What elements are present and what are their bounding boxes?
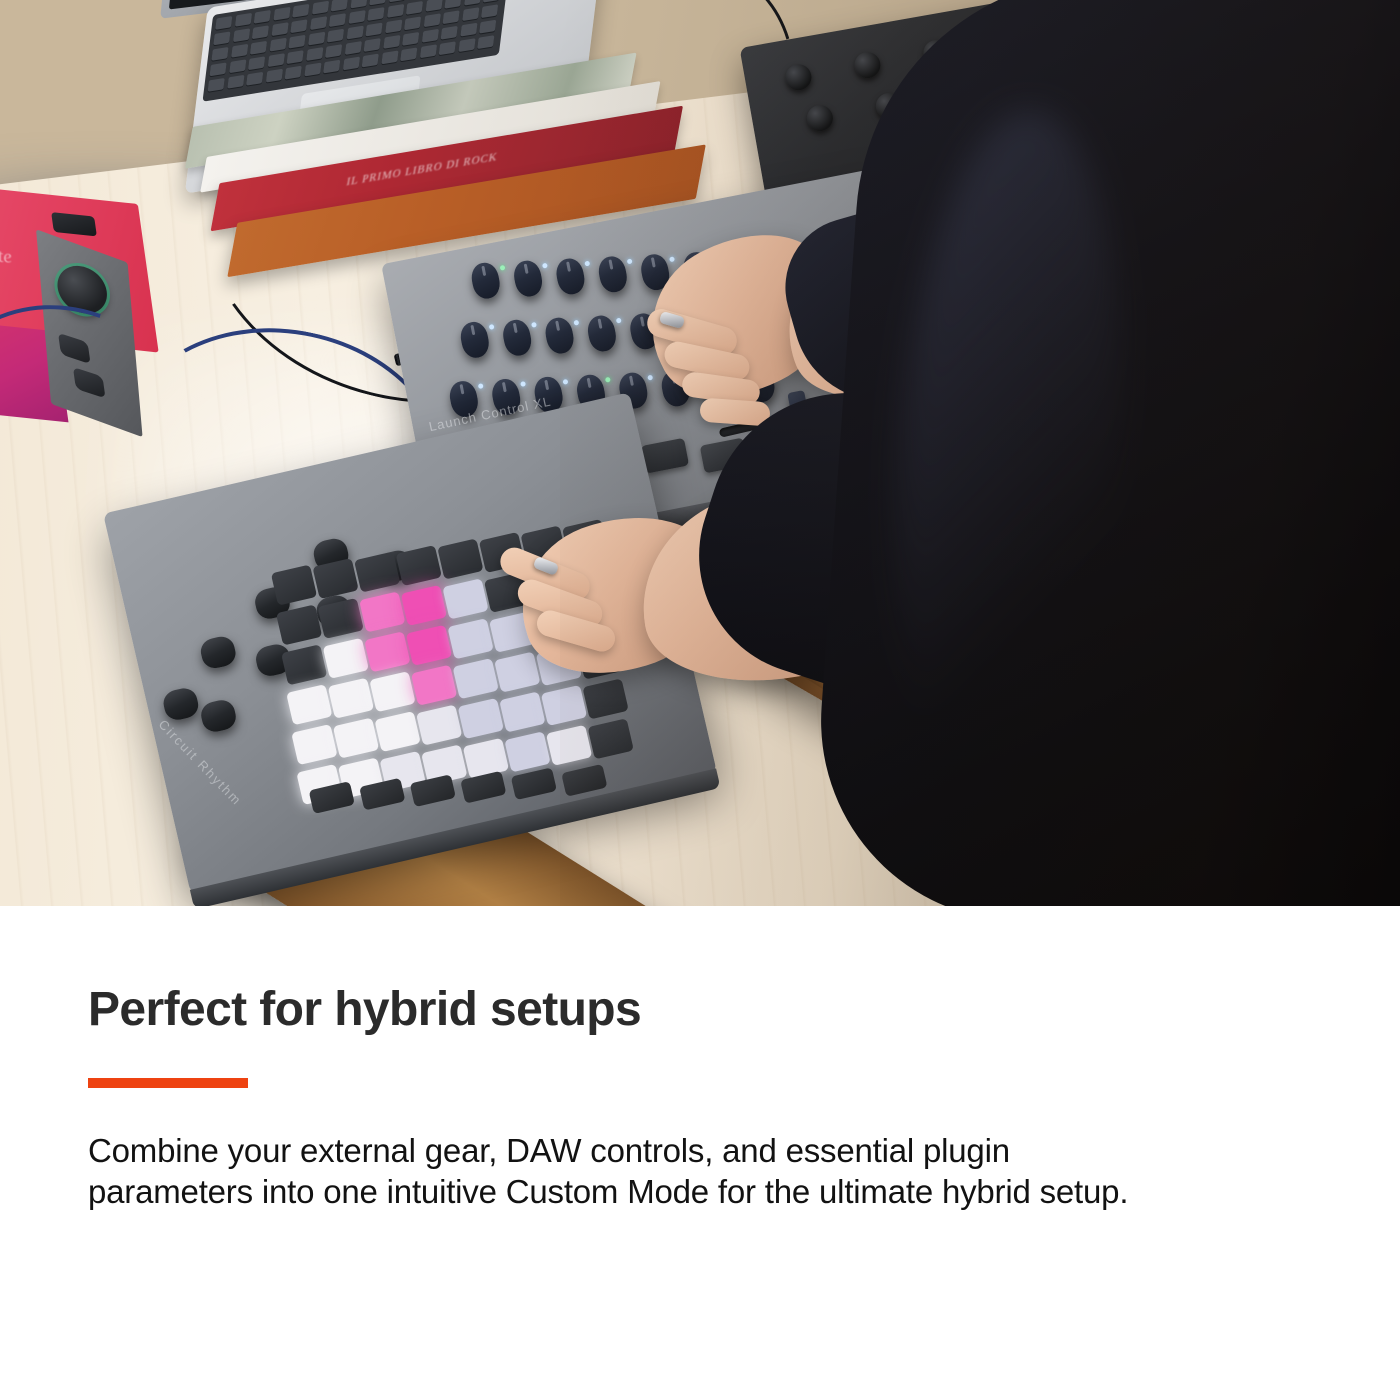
rhythm-pad — [291, 724, 337, 765]
laptop-key — [442, 10, 459, 24]
rhythm-pad — [494, 652, 540, 693]
laptop-key — [381, 50, 398, 64]
launchcontrol-knob — [511, 258, 544, 298]
rhythm-pad — [276, 604, 322, 645]
rhythm-pad — [286, 684, 332, 725]
rhythm-pad — [271, 565, 317, 606]
laptop-key — [402, 32, 419, 46]
rhythm-pad — [323, 638, 369, 679]
laptop-key — [460, 23, 477, 37]
rhythm-pad — [318, 598, 364, 639]
rhythm-brand-label: Circuit Rhythm — [156, 717, 245, 809]
rhythm-pad — [401, 585, 447, 626]
laptop-key — [387, 4, 404, 18]
rhythm-pad — [396, 545, 442, 586]
rhythm-knob-4 — [199, 698, 239, 735]
laptop-key — [444, 0, 461, 9]
laptop-key — [462, 7, 479, 21]
laptop-key — [365, 23, 382, 37]
accent-bar — [88, 1078, 248, 1088]
launchcontrol-knob — [458, 320, 491, 360]
rhythm-pad — [359, 591, 405, 632]
laptop-key — [383, 35, 400, 49]
laptop-key — [425, 0, 442, 12]
laptop-key — [369, 0, 386, 5]
laptop-key — [441, 26, 458, 40]
laptop-key — [483, 0, 500, 3]
laptop-key — [439, 41, 456, 55]
rhythm-pad — [442, 578, 488, 619]
laptop-key — [400, 47, 417, 61]
hero-photo: IL PRIMO LIBRO DI ROCK Focusrite — [0, 0, 1400, 906]
rhythm-pad — [374, 711, 420, 752]
launchcontrol-knob — [500, 318, 533, 358]
rhythm-knob-7 — [198, 634, 238, 671]
rhythm-pad — [406, 625, 452, 666]
laptop-key — [481, 4, 498, 18]
rhythm-pad — [458, 698, 504, 739]
laptop-key — [348, 10, 365, 24]
rhythm-pad — [504, 731, 550, 772]
laptop-key — [362, 54, 379, 68]
laptop-key — [389, 0, 406, 2]
rhythm-pad — [333, 718, 379, 759]
rhythm-pad — [281, 644, 327, 685]
laptop-key — [385, 20, 402, 34]
rhythm-pad — [416, 704, 462, 745]
body-paragraph: Combine your external gear, DAW controls… — [88, 1130, 1178, 1212]
laptop-key — [477, 35, 494, 49]
launchcontrol-knob-led — [489, 324, 495, 330]
launchcontrol-knob-led — [531, 322, 537, 328]
rhythm-pad — [447, 618, 493, 659]
laptop-key — [464, 0, 481, 6]
rhythm-pad — [453, 658, 499, 699]
rhythm-pad — [369, 671, 415, 712]
rhythm-pad — [312, 558, 358, 599]
page-title: Perfect for hybrid setups — [88, 985, 641, 1035]
laptop-key — [406, 1, 423, 15]
laptop-key — [346, 26, 363, 40]
laptop-key — [350, 0, 367, 8]
rhythm-pad — [364, 631, 410, 672]
rhythm-pad — [328, 678, 374, 719]
launchcontrol-knob — [469, 260, 502, 300]
laptop-key — [421, 29, 438, 43]
laptop-key — [404, 16, 421, 30]
rhythm-pad — [354, 551, 400, 592]
rhythm-pad — [499, 691, 545, 732]
laptop-key — [479, 20, 496, 34]
rhythm-pad — [411, 665, 457, 706]
laptop-key — [458, 38, 475, 52]
laptop-key — [364, 38, 381, 52]
launchcontrol-knob-led — [500, 265, 506, 271]
marketing-feature-page: IL PRIMO LIBRO DI ROCK Focusrite — [0, 0, 1400, 1400]
launchcontrol-knob-led — [478, 383, 484, 389]
launchcontrol-knob-led — [542, 263, 548, 269]
laptop-key — [367, 7, 384, 21]
laptop-key — [423, 13, 440, 27]
right-side-shadow — [560, 0, 1400, 906]
laptop-key — [419, 44, 436, 58]
launchcontrol-knob-led — [520, 381, 526, 387]
rhythm-pad — [437, 538, 483, 579]
rhythm-pad — [463, 738, 509, 779]
